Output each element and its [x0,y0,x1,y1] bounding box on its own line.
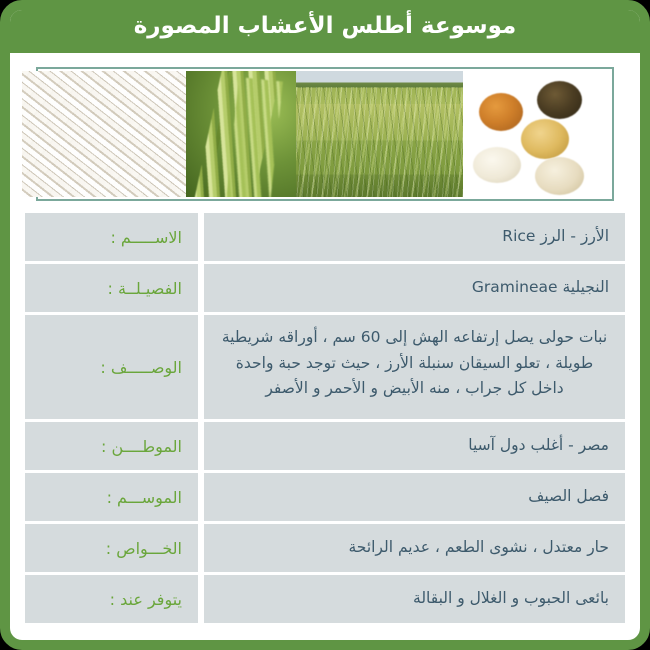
table-row-availability: بائعى الحبوب و الغلال و البقالة يتوفر عن… [25,575,625,623]
table-row-properties: حار معتدل ، نشوى الطعم ، عديم الرائحة ال… [25,524,625,572]
rice-pile-white [473,147,521,183]
cell-divider [198,473,204,521]
page-header: موسوعة أطلس الأعشاب المصورة [0,0,650,53]
table-row-family: النجيلية Gramineae الفصيـلــة : [25,264,625,312]
cell-divider [198,315,204,419]
family-label: الفصيـلــة : [25,264,198,312]
table-row-name: الأرز - الرز Rice الاســـــم : [25,213,625,261]
rice-field-texture [296,87,463,197]
rice-field-photo [296,71,463,197]
family-value: النجيلية Gramineae [204,264,625,312]
white-rice-grains-texture [22,71,186,197]
season-label: الموســـم : [25,473,198,521]
rice-pile-dark-brown [537,81,582,119]
cell-divider [198,422,204,470]
habitat-label: الموطــــن : [25,422,198,470]
name-value: الأرز - الرز Rice [204,213,625,261]
availability-label: يتوفر عند : [25,575,198,623]
rice-varieties-piles-photo [463,71,610,197]
page-title: موسوعة أطلس الأعشاب المصورة [134,15,517,38]
herb-atlas-card: موسوعة أطلس الأعشاب المصورة [0,0,650,650]
rice-pile-yellow [521,119,569,159]
rice-pile-orange [479,93,523,131]
availability-value: بائعى الحبوب و الغلال و البقالة [204,575,625,623]
description-label: الوصـــــف : [25,315,198,419]
cell-divider [198,524,204,572]
season-value: فصل الصيف [204,473,625,521]
white-rice-grains-photo [22,71,186,197]
table-row-season: فصل الصيف الموســـم : [25,473,625,521]
cell-divider [198,264,204,312]
photo-gallery [36,67,614,201]
cell-divider [198,213,204,261]
rice-pile-cream [535,157,584,195]
table-row-description: نبات حولى يصل إرتفاعه الهش إلى 60 سم ، أ… [25,315,625,419]
table-row-habitat: مصر - أغلب دول آسيا الموطــــن : [25,422,625,470]
info-table: الأرز - الرز Rice الاســـــم : النجيلية … [10,201,640,623]
description-value: نبات حولى يصل إرتفاعه الهش إلى 60 سم ، أ… [204,315,625,419]
properties-label: الخـــواص : [25,524,198,572]
properties-value: حار معتدل ، نشوى الطعم ، عديم الرائحة [204,524,625,572]
rice-spike-closeup-photo [186,71,296,197]
gallery-container [10,53,640,201]
habitat-value: مصر - أغلب دول آسيا [204,422,625,470]
cell-divider [198,575,204,623]
name-label: الاســـــم : [25,213,198,261]
